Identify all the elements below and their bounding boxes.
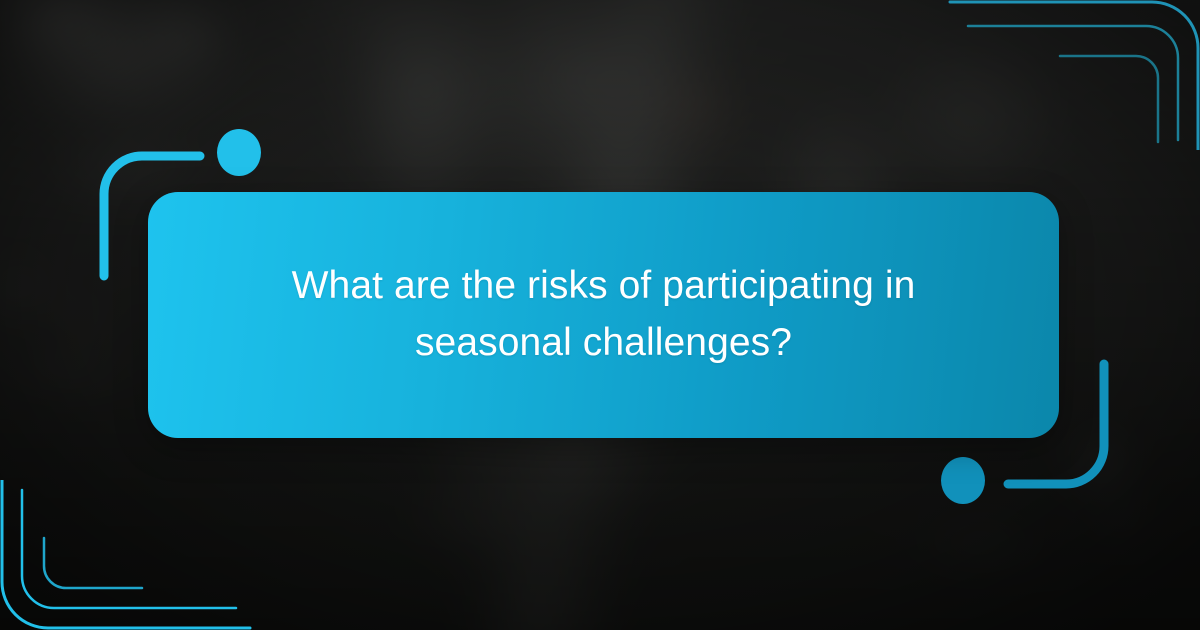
question-card-graphic: What are the risks of participating in s…	[0, 0, 1200, 630]
question-text: What are the risks of participating in s…	[148, 258, 1059, 371]
question-card: What are the risks of participating in s…	[148, 192, 1059, 438]
